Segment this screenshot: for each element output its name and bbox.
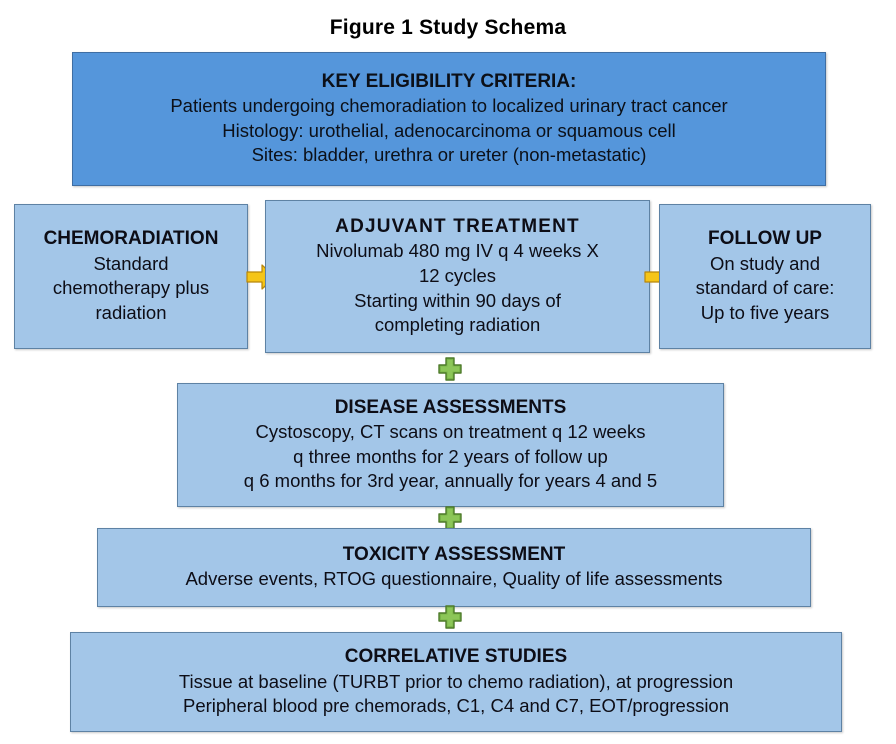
- box-header: TOXICITY ASSESSMENT: [343, 543, 565, 567]
- box-line: Cystoscopy, CT scans on treatment q 12 w…: [255, 420, 645, 445]
- box-header: FOLLOW UP: [708, 227, 822, 251]
- box-header: KEY ELIGIBILITY CRITERIA:: [322, 70, 577, 94]
- box-line: Adverse events, RTOG questionnaire, Qual…: [185, 567, 722, 592]
- box-header: CHEMORADIATION: [44, 227, 219, 251]
- box-line: Peripheral blood pre chemorads, C1, C4 a…: [183, 694, 729, 719]
- box-line: 12 cycles: [419, 264, 496, 289]
- box-line: Starting within 90 days of: [354, 289, 561, 314]
- box-line: Up to five years: [701, 301, 830, 326]
- box-key-eligibility-criteria: KEY ELIGIBILITY CRITERIA: Patients under…: [72, 52, 826, 186]
- box-adjuvant-treatment: ADJUVANT TREATMENT Nivolumab 480 mg IV q…: [265, 200, 650, 353]
- box-line: chemotherapy plus: [53, 276, 209, 301]
- box-line: On study and: [710, 252, 820, 277]
- box-line: Histology: urothelial, adenocarcinoma or…: [222, 119, 676, 144]
- figure-title: Figure 1 Study Schema: [0, 16, 896, 40]
- box-line: radiation: [96, 301, 167, 326]
- box-line: Patients undergoing chemoradiation to lo…: [170, 94, 727, 119]
- box-line: Tissue at baseline (TURBT prior to chemo…: [179, 670, 733, 695]
- box-header: DISEASE ASSESSMENTS: [335, 396, 567, 420]
- study-schema-diagram: Figure 1 Study Schema KEY ELIGIBILITY CR…: [0, 0, 896, 744]
- box-line: Sites: bladder, urethra or ureter (non-m…: [252, 143, 647, 168]
- box-disease-assessments: DISEASE ASSESSMENTS Cystoscopy, CT scans…: [177, 383, 724, 507]
- box-line: q three months for 2 years of follow up: [293, 445, 608, 470]
- box-line: completing radiation: [375, 313, 541, 338]
- box-follow-up: FOLLOW UP On study and standard of care:…: [659, 204, 871, 349]
- box-header: CORRELATIVE STUDIES: [345, 645, 567, 669]
- box-chemoradiation: CHEMORADIATION Standard chemotherapy plu…: [14, 204, 248, 349]
- plus-icon-toxicity-to-correlative: [437, 604, 463, 630]
- box-line: Standard: [93, 252, 168, 277]
- box-correlative-studies: CORRELATIVE STUDIES Tissue at baseline (…: [70, 632, 842, 732]
- box-line: q 6 months for 3rd year, annually for ye…: [244, 469, 657, 494]
- box-line: Nivolumab 480 mg IV q 4 weeks X: [316, 239, 599, 264]
- box-toxicity-assessment: TOXICITY ASSESSMENT Adverse events, RTOG…: [97, 528, 811, 607]
- box-line: standard of care:: [696, 276, 835, 301]
- box-header: ADJUVANT TREATMENT: [335, 215, 580, 239]
- plus-icon-adjuvant-to-disease: [437, 356, 463, 382]
